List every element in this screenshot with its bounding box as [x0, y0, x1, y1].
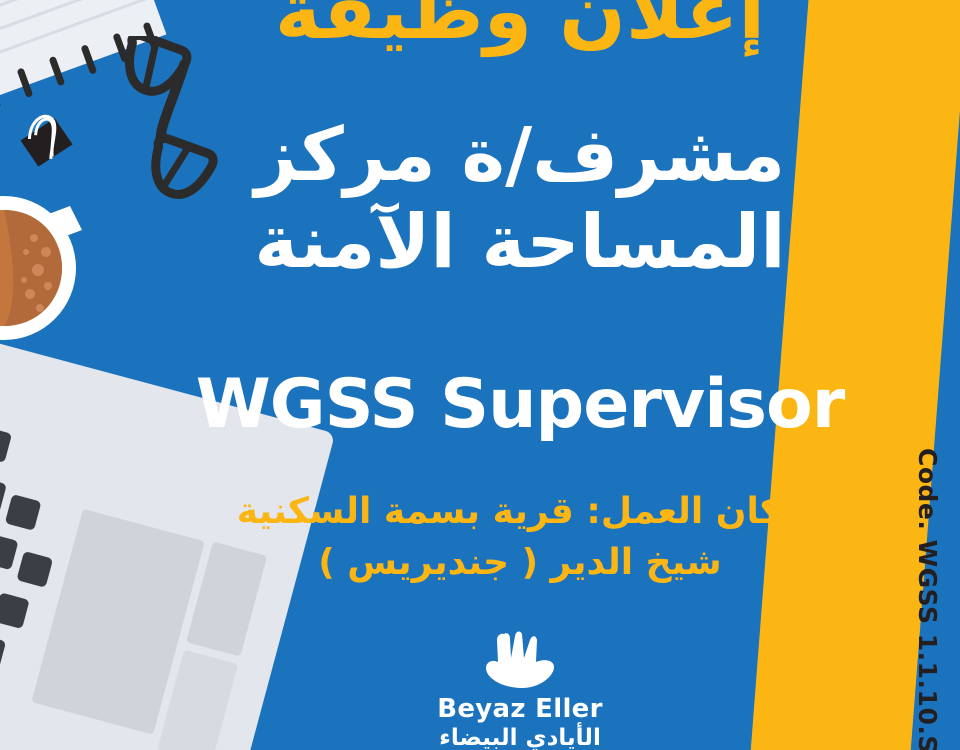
organization-logo: Beyaz Eller الأيادي البيضاء: [190, 628, 850, 750]
logo-name-arabic: الأيادي البيضاء: [439, 725, 601, 750]
work-location: مكان العمل: قرية بسمة السكنية شيخ الدير …: [190, 486, 850, 588]
announcement-kicker: إعلان وظيفة: [190, 0, 850, 54]
work-location-line-2: شيخ الدير ( جنديريس ): [190, 537, 850, 588]
page-title-line-2: المساحة الآمنة: [190, 199, 850, 286]
binder-clip-icon: [7, 101, 82, 177]
coffee-cup-icon: [0, 190, 110, 340]
job-announcement-poster: Code. WGSS 1.1.10.S إعلان وظيفة مشرف/ة م…: [0, 0, 960, 750]
job-code-label: Code. WGSS 1.1.10.S: [913, 448, 942, 750]
page-title-english: WGSS Supervisor: [190, 368, 850, 443]
white-hand-icon: [484, 628, 556, 690]
poster-content: إعلان وظيفة مشرف/ة مركز المساحة الآمنة W…: [190, 0, 850, 750]
logo-name-latin: Beyaz Eller: [437, 694, 602, 724]
page-title: مشرف/ة مركز المساحة الآمنة: [190, 112, 850, 287]
page-title-line-1: مشرف/ة مركز: [190, 112, 850, 199]
work-location-line-1: مكان العمل: قرية بسمة السكنية: [190, 486, 850, 537]
